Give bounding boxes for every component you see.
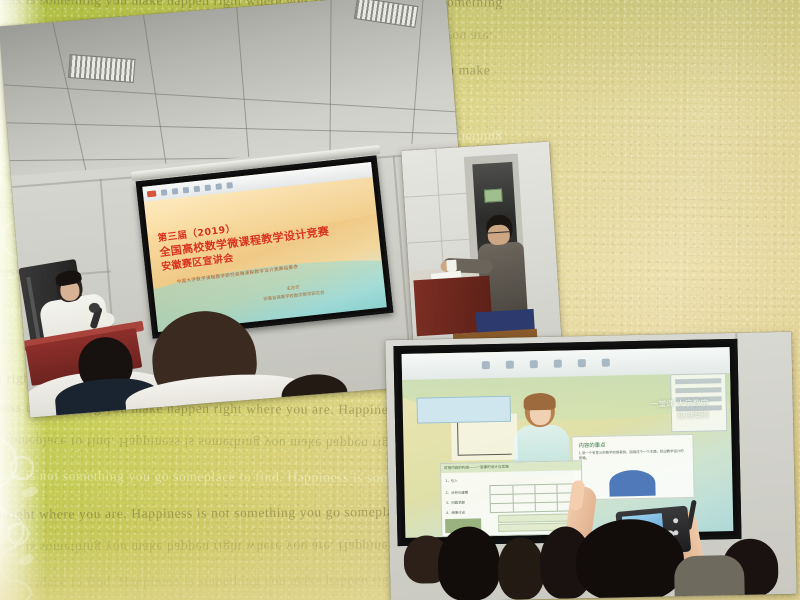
grid-line	[556, 485, 558, 511]
panel-row-label: 4．结果讨论	[446, 510, 465, 515]
toolbar-icon	[482, 361, 490, 369]
slide-header-line2: 应用案例	[650, 410, 709, 424]
card-title: 内容的重点	[578, 441, 605, 450]
door-sign	[484, 189, 503, 203]
toolbar-icon	[602, 359, 610, 367]
toolbar-icon	[147, 190, 157, 197]
audience-photographing-photo[interactable]: 一堂课 大学数学 应用案例 函数模型与曲线图	[385, 332, 796, 600]
panel-row-label: 3．问题求解	[446, 500, 465, 505]
toolbar-icon	[226, 182, 233, 189]
panel-row-label: 2．分析与建模	[445, 490, 468, 495]
card-body: 1.讲一个有意义的数学应用案例，围绕这个一个主题，给出教学设计的思路。	[579, 449, 687, 462]
toolbar-icon	[554, 360, 562, 368]
card-dome-graphic	[609, 470, 656, 497]
chart-curve	[458, 420, 511, 456]
toolbar-icon	[578, 359, 586, 367]
toolbar-icon	[183, 186, 190, 193]
audience-head	[437, 526, 501, 600]
ceiling-light-icon	[68, 54, 136, 83]
presenter-hair	[523, 393, 555, 411]
projection-screen[interactable]: 第三届（2019） 全国高校数学微课程教学设计竞赛 安徽赛区宣讲会 中国大学数学…	[136, 155, 394, 338]
panel-title: 讲授内容的构成——一堂课的设计与实施	[441, 461, 581, 473]
toolbar-icon	[204, 184, 211, 191]
audience-head	[497, 537, 544, 600]
camera-button-icon[interactable]	[673, 518, 678, 523]
audience-head	[575, 518, 685, 600]
toolbar-icon	[215, 183, 222, 190]
presentation-slide: 第三届（2019） 全国高校数学微课程教学设计竞赛 安徽赛区宣讲会 中国大学数学…	[142, 162, 386, 332]
collage-canvas: Happiness is something you make happen r…	[0, 0, 800, 600]
panel-row	[675, 387, 721, 393]
panel-row-label: 1．引入	[445, 478, 457, 483]
toolbar-icon	[530, 360, 538, 368]
panel-grid-table	[489, 483, 578, 513]
card-inset-image	[417, 396, 512, 424]
audience-shoulder	[674, 555, 745, 598]
toolbar-icon	[172, 188, 179, 195]
toolbar-icon	[506, 361, 514, 369]
grid-line	[534, 485, 536, 511]
toolbar-icon	[194, 185, 201, 192]
toolbar-icon	[161, 189, 168, 196]
grid-line	[512, 486, 514, 512]
seated-man-photo[interactable]	[401, 142, 562, 369]
panel-row	[675, 378, 721, 384]
slide-header: 一堂课 大学数学 应用案例	[650, 398, 709, 424]
